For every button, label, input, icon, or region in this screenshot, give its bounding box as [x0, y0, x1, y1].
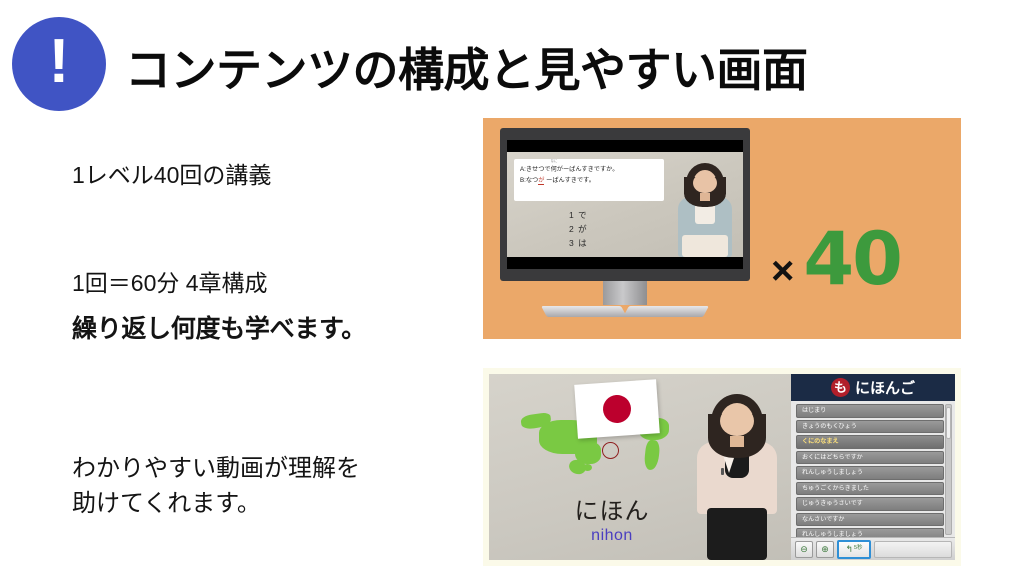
caption-a-kanji: 何 [551, 166, 557, 173]
body-line-3: 繰り返し何度も学べます。 [72, 313, 472, 347]
japan-flag-icon [574, 379, 660, 439]
lesson-sidebar: も にほんご はじまり きょうのもくひょう くにのなまえ おくにはどちらですか … [791, 374, 955, 560]
list-item[interactable]: なんさいですか [796, 513, 944, 527]
monitor-screen: A:きせつでなに何がーばんすきですか。 B:なつが ーばんすきです。 1 で 2… [507, 140, 743, 269]
japan-location-circle [602, 442, 619, 459]
lesson-sidebar-title: にほんご [855, 377, 915, 398]
multiplier-label: × 40 [771, 223, 901, 296]
caption-b-suffix: ーばんすきです。 [544, 177, 594, 184]
toolbar-filler [874, 541, 952, 558]
list-item[interactable]: れんしゅうしましょう [796, 528, 944, 537]
page-title: コンテンツの構成と見やすい画面 [125, 46, 808, 94]
presenter-neck [700, 193, 710, 201]
rewind-seconds-label: 5秒 [854, 546, 863, 552]
sidebar-scrollbar[interactable] [945, 404, 952, 535]
body-paragraph-2-line-2: 助けてくれます。 [72, 487, 492, 522]
vocabulary-romaji: nihon [547, 526, 677, 546]
flag-sun-disc [602, 394, 632, 424]
caption-box: A:きせつでなに何がーばんすきですか。 B:なつが ーばんすきです。 [514, 159, 664, 201]
presenter-figure [673, 159, 737, 257]
multiplier-value: 40 [803, 223, 901, 296]
lesson-sidebar-header: も にほんご [791, 374, 955, 401]
zoom-in-icon[interactable]: ⊕ [816, 541, 834, 558]
exclamation-glyph: ! [12, 17, 106, 111]
particle-choice-2: 2 が [569, 222, 588, 236]
list-item-selected[interactable]: くにのなまえ [796, 435, 944, 449]
list-item[interactable]: おくにはどちらですか [796, 451, 944, 465]
lesson-video-frame: A:きせつでなに何がーばんすきですか。 B:なつが ーばんすきです。 1 で 2… [507, 152, 743, 257]
lesson-player-panel: にほん nihon も にほんご [483, 368, 961, 566]
list-item[interactable]: きょうのもくひょう [796, 420, 944, 434]
scrollbar-thumb[interactable] [946, 407, 951, 439]
body-paragraph-2: わかりやすい動画が理解を 助けてくれます。 [72, 452, 492, 522]
particle-choice-3: 3 は [569, 236, 588, 250]
list-item[interactable]: はじまり [796, 404, 944, 418]
player-toolbar: ⊖ ⊕ ↰ 5秒 [791, 537, 955, 560]
presenter-hair-side [684, 177, 726, 207]
caption-a-prefix: A:きせつで [520, 166, 551, 173]
lesson-player-inner: にほん nihon も にほんご [489, 374, 955, 560]
zoom-out-icon[interactable]: ⊖ [795, 541, 813, 558]
body-line-1: 1レベル40回の講義 [72, 160, 472, 191]
particle-choice-1: 1 で [569, 208, 588, 222]
vocabulary-kana: にほん [547, 499, 677, 525]
multiply-icon: × [771, 251, 794, 291]
caption-a-suffix: がーばんすきですか。 [557, 166, 619, 173]
instructor-pants [707, 508, 767, 560]
exclamation-icon: ! [12, 17, 106, 111]
list-item[interactable]: じゅうきゅうさいです [796, 497, 944, 511]
rewind-icon: ↰ [845, 545, 853, 554]
monitor-illustration-panel: A:きせつでなに何がーばんすきですか。 B:なつが ーばんすきです。 1 で 2… [483, 118, 961, 339]
body-line-2: 1回＝60分 4章構成 [72, 268, 472, 299]
caption-line-a: A:きせつでなに何がーばんすきですか。 [520, 164, 658, 175]
body-text-block: 1レベル40回の講義 1回＝60分 4章構成 繰り返し何度も学べます。 [72, 160, 472, 347]
lesson-video-stage: にほん nihon [489, 374, 791, 560]
monitor-base-left [541, 306, 627, 317]
list-item[interactable]: ちゅうごくからきました [796, 482, 944, 496]
instructor-neck [730, 436, 744, 447]
lapel-microphone-icon [721, 468, 724, 475]
particle-choice-list: 1 で 2 が 3 は [569, 208, 588, 250]
caption-b-prefix: B:なつ [520, 177, 538, 184]
rewind-5-seconds-button[interactable]: ↰ 5秒 [837, 540, 871, 559]
monitor-base-right [623, 306, 709, 317]
caption-line-b: B:なつが ーばんすきです。 [520, 175, 658, 186]
body-paragraph-2-line-1: わかりやすい動画が理解を [72, 452, 492, 487]
slide-canvas: ! コンテンツの構成と見やすい画面 1レベル40回の講義 1回＝60分 4章構成… [0, 0, 1024, 577]
caption-a-ruby: なに [551, 160, 557, 163]
computer-monitor-icon: A:きせつでなに何がーばんすきですか。 B:なつが ーばんすきです。 1 で 2… [500, 128, 750, 303]
list-item[interactable]: れんしゅうしましょう [796, 466, 944, 480]
monitor-stand-base [544, 300, 706, 317]
nihongo-logo-icon: も [831, 378, 850, 397]
lesson-chapter-list: はじまり きょうのもくひょう くにのなまえ おくにはどちらですか れんしゅうしま… [791, 401, 955, 537]
ruby-group: なに何 [551, 164, 557, 175]
presenter-skirt [682, 235, 728, 257]
vocabulary-label: にほん nihon [547, 499, 677, 546]
instructor-figure [689, 390, 785, 560]
